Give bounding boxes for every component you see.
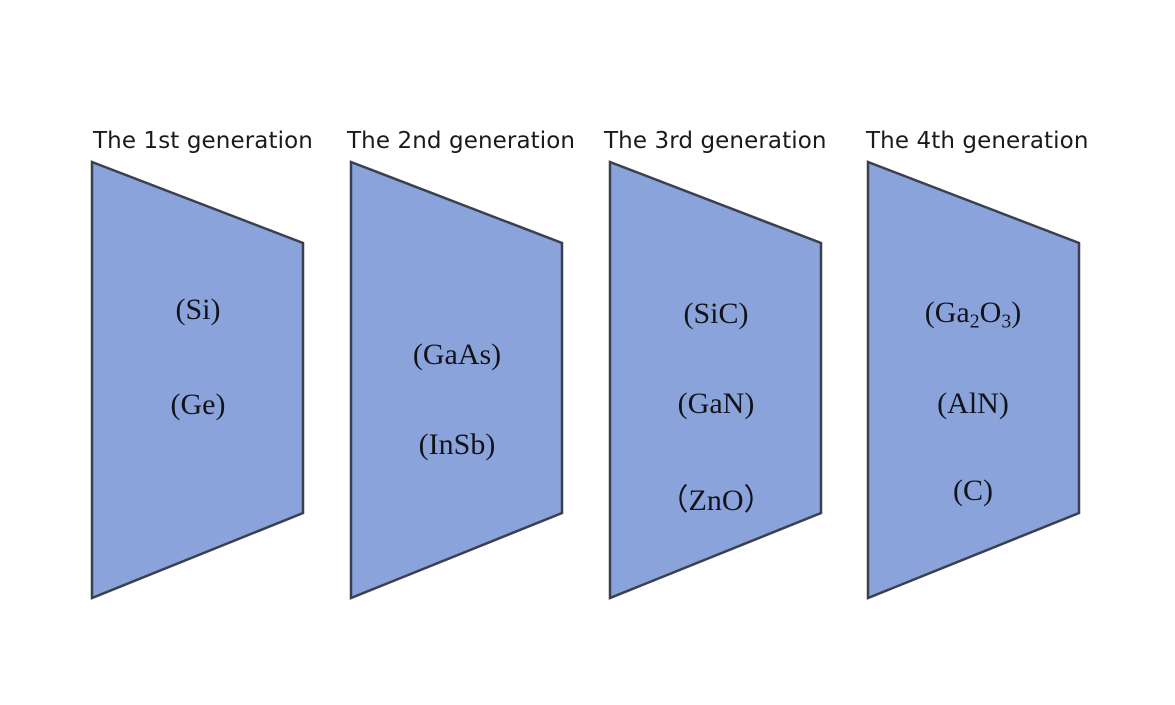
subscript: 3 bbox=[1001, 311, 1011, 333]
material-generation-3-2: (GaN) bbox=[678, 387, 755, 421]
panel-trapezoid-generation-3 bbox=[610, 162, 821, 598]
material-generation-1-1: (Si) bbox=[176, 293, 221, 327]
material-generation-4-2: (AlN) bbox=[937, 387, 1009, 421]
generation-label-3: The 3rd generation bbox=[604, 128, 827, 154]
generation-label-1: The 1st generation bbox=[93, 128, 313, 154]
panel-shapes-layer bbox=[0, 0, 1175, 705]
material-generation-2-2: (InSb) bbox=[419, 428, 496, 462]
material-generation-1-2: (Ge) bbox=[171, 388, 226, 422]
generation-label-2: The 2nd generation bbox=[347, 128, 575, 154]
generation-label-4: The 4th generation bbox=[866, 128, 1089, 154]
subscript: 2 bbox=[970, 311, 980, 333]
material-generation-4-3: (C) bbox=[953, 474, 993, 508]
panel-trapezoid-generation-2 bbox=[351, 162, 562, 598]
semiconductor-generations-diagram: The 1st generation(Si)(Ge)The 2nd genera… bbox=[0, 0, 1175, 705]
panel-trapezoid-generation-1 bbox=[92, 162, 303, 598]
material-generation-3-3: （ZnO） bbox=[659, 475, 774, 519]
panel-trapezoid-generation-4 bbox=[868, 162, 1079, 598]
material-generation-2-1: (GaAs) bbox=[413, 338, 501, 372]
material-generation-3-1: (SiC) bbox=[683, 297, 748, 331]
material-generation-4-1: (Ga2O3) bbox=[925, 296, 1021, 334]
